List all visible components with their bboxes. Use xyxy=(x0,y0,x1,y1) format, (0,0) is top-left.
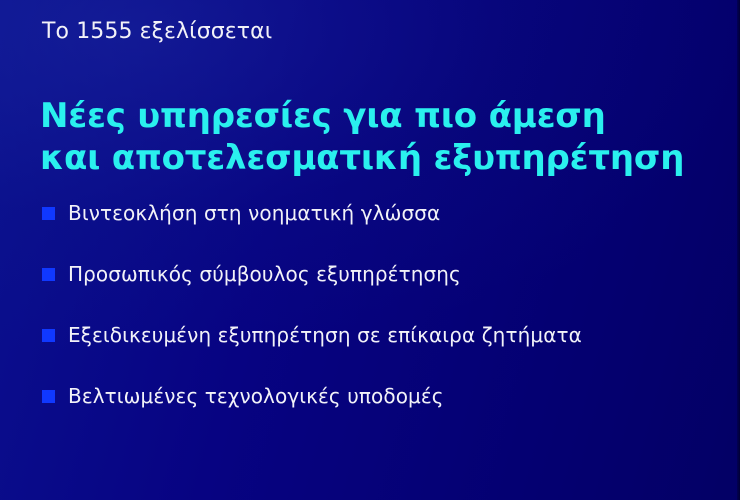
slide-headline: Νέες υπηρεσίες για πιο άμεση και αποτελε… xyxy=(40,95,684,179)
square-bullet-icon xyxy=(42,329,55,342)
list-item-label: Εξειδικευμένη εξυπηρέτηση σε επίκαιρα ζη… xyxy=(68,320,702,350)
square-bullet-icon xyxy=(42,268,55,281)
presentation-slide: Το 1555 εξελίσσεται Νέες υπηρεσίες για π… xyxy=(0,0,740,500)
list-item-label: Βιντεοκλήση στη νοηματική γλώσσα xyxy=(68,198,702,228)
list-item: Βιντεοκλήση στη νοηματική γλώσσα xyxy=(42,198,702,259)
slide-eyebrow-text: Το 1555 εξελίσσεται xyxy=(42,18,272,46)
square-bullet-icon xyxy=(42,207,55,220)
list-item-label: Βελτιωμένες τεχνολογικές υποδομές xyxy=(68,381,702,411)
square-bullet-icon xyxy=(42,390,55,403)
list-item: Βελτιωμένες τεχνολογικές υποδομές xyxy=(42,381,702,442)
headline-line-1: Νέες υπηρεσίες για πιο άμεση xyxy=(40,95,684,137)
list-item: Προσωπικός σύμβουλος εξυπηρέτησης xyxy=(42,259,702,320)
list-item: Εξειδικευμένη εξυπηρέτηση σε επίκαιρα ζη… xyxy=(42,320,702,381)
headline-line-2: και αποτελεσματική εξυπηρέτηση xyxy=(40,137,684,179)
feature-bullet-list: Βιντεοκλήση στη νοηματική γλώσσα Προσωπι… xyxy=(42,198,702,442)
list-item-label: Προσωπικός σύμβουλος εξυπηρέτησης xyxy=(68,259,702,289)
